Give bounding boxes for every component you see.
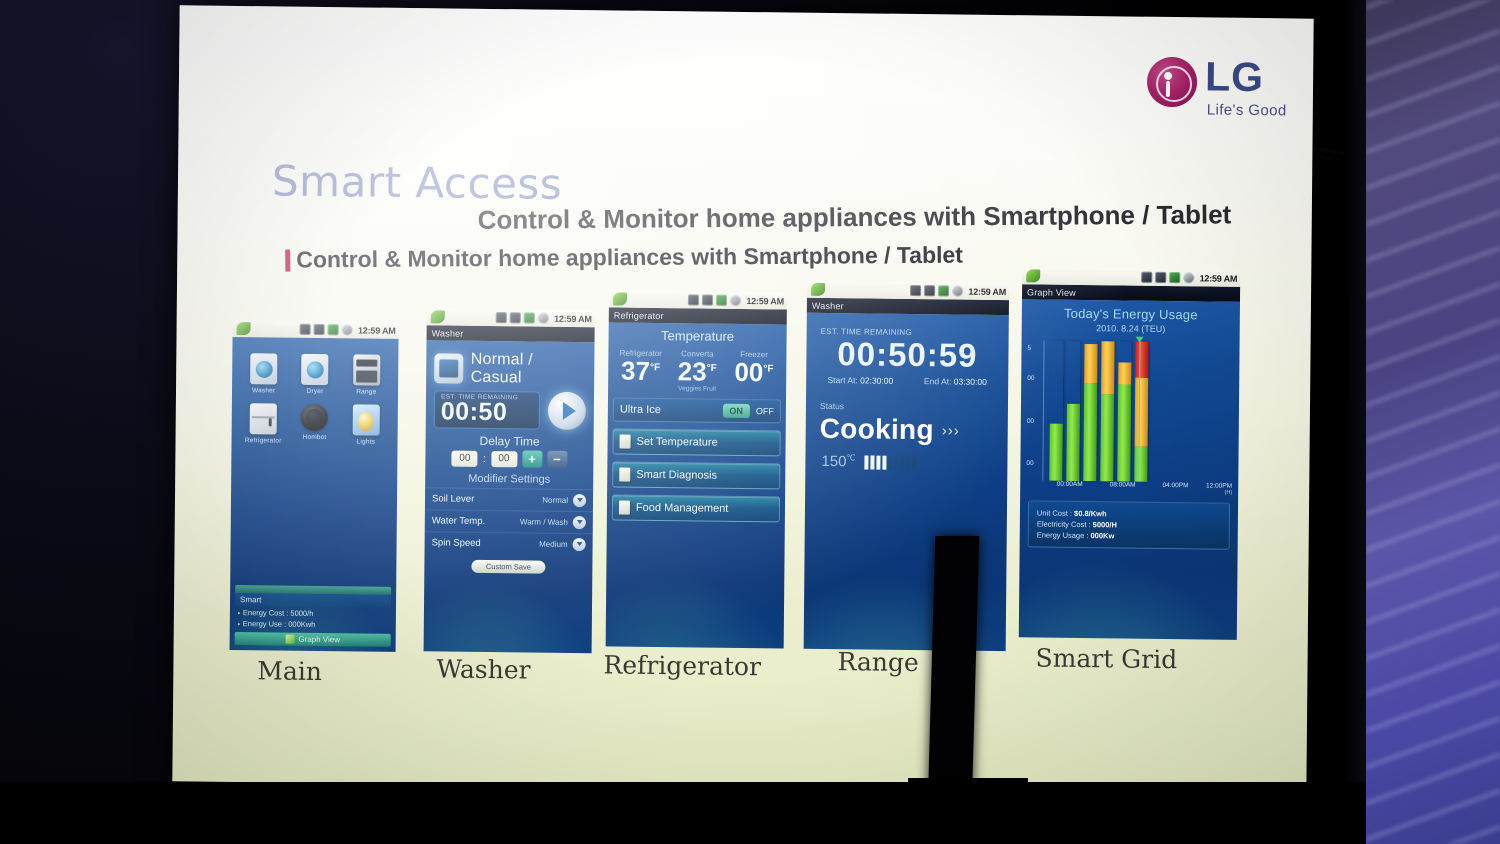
x-tick: 04:00PM (1162, 482, 1188, 489)
battery-icon (524, 312, 535, 323)
x-tick: 08:00AM (1110, 481, 1136, 488)
caption-washer: Washer (436, 654, 530, 684)
smart-summary-panel: Smart Energy Cost : 5000/h Energy Use : … (235, 585, 392, 647)
chart-bar (1100, 341, 1114, 481)
lg-wordmark: LG (1205, 53, 1264, 101)
time-remaining-box: EST. TIME REMAINING 00:50 (434, 390, 540, 429)
washer-screen-body: Normal / Casual EST. TIME REMAINING 00:5… (424, 340, 595, 653)
chart-x-axis: 00:00AM 08:00AM 04:00PM 12:00PM (H) (1043, 481, 1232, 497)
leaf-icon (431, 310, 445, 323)
alarm-icon (730, 295, 741, 306)
hombot-icon (301, 404, 328, 431)
y-tick: 00 (1027, 418, 1034, 425)
time-remaining-value: 00:50 (441, 401, 533, 426)
delay-increase-button[interactable]: + (522, 450, 542, 467)
phone-refrigerator: 12:59 AM Refrigerator Temperature Refrig… (606, 290, 787, 648)
program-row[interactable]: Normal / Casual (426, 340, 594, 390)
range-status-value: Cooking (820, 413, 934, 446)
app-label: Dryer (307, 388, 324, 395)
range-level-meter (864, 455, 916, 470)
heading-accent-bar (285, 249, 290, 271)
y-tick: 00 (1027, 375, 1034, 382)
chart-bar (1083, 341, 1097, 481)
menu-label: Food Management (636, 502, 728, 515)
sim-icon (496, 312, 507, 323)
leaf-icon (237, 322, 251, 335)
document-icon (619, 468, 630, 482)
phone-range: 12:59 AM Washer EST. TIME REMAINING 00:5… (804, 281, 1009, 651)
range-temperature: 150℃ (821, 453, 855, 470)
app-label: Hombot (303, 434, 327, 441)
sim-icon (688, 294, 699, 305)
app-lights[interactable]: Lights (340, 404, 392, 446)
chart-subtitle: 2010. 8.24 (TEU) (1022, 320, 1240, 335)
temperature-title: Temperature (609, 322, 787, 346)
setting-value: Normal (542, 496, 568, 505)
battery-icon (328, 324, 339, 335)
leaf-icon (613, 292, 627, 305)
leaf-icon (1026, 269, 1040, 282)
app-label: Washer (252, 387, 275, 394)
battery-icon (716, 295, 727, 306)
menu-label: Smart Diagnosis (636, 469, 717, 482)
custom-save-button[interactable]: Custom Save (472, 560, 545, 574)
battery-icon (938, 285, 949, 296)
refrigerator-screen-body: Temperature Refrigerator 37°F Converta 2… (606, 322, 787, 648)
status-time: 12:59 AM (968, 286, 1006, 296)
energy-use-row: Energy Use : 000Kwh (235, 617, 391, 630)
app-washer[interactable]: Washer (238, 353, 290, 395)
chart-bar (1066, 341, 1080, 481)
temperature-zones: Refrigerator 37°F Converta 23°F Veggies … (608, 344, 786, 393)
phone-washer: 12:59 AM Washer Normal / Casual EST. TIM… (424, 308, 595, 653)
delay-minutes-input[interactable]: 00 (491, 451, 517, 467)
chart-bar (1049, 341, 1063, 481)
signal-icon (1156, 272, 1167, 283)
lg-nose-icon (1166, 81, 1170, 97)
start-at: Start At: 02:30:00 (827, 375, 893, 386)
chart-bars (1049, 341, 1148, 482)
range-screen-body: EST. TIME REMAINING 00:50:59 Start At: 0… (804, 313, 1009, 651)
graph-view-label: Graph View (298, 635, 340, 644)
alarm-icon (538, 313, 549, 324)
statusbar-smart-grid: 12:59 AM (1022, 267, 1240, 287)
delay-decrease-button[interactable]: − (547, 451, 567, 468)
statusbar-washer: 12:59 AM (427, 308, 595, 327)
lg-eye-icon (1164, 72, 1172, 80)
washer-icon (250, 353, 277, 384)
delay-time-row: 00 : 00 + − (425, 449, 593, 472)
end-at: End At: 03:30:00 (924, 376, 987, 387)
toggle-off-option[interactable]: OFF (756, 406, 774, 416)
graph-view-button[interactable]: Graph View (235, 632, 391, 647)
app-dryer[interactable]: Dryer (289, 354, 341, 396)
delay-hours-input[interactable]: 00 (452, 450, 478, 466)
menu-smart-diagnosis[interactable]: Smart Diagnosis (612, 462, 780, 490)
lg-mark-icon (1147, 57, 1197, 108)
slide-heading-text: Control & Monitor home appliances with S… (296, 242, 963, 274)
alarm-icon (1184, 272, 1195, 283)
sim-icon (910, 285, 921, 296)
projection-screen: LG Life's Good Smart Access Control & Mo… (172, 5, 1313, 794)
signal-icon (702, 295, 713, 306)
status-time: 12:59 AM (358, 325, 396, 335)
chart-bar (1134, 342, 1148, 482)
range-schedule-row: Start At: 02:30:00 End At: 03:30:00 (806, 372, 1008, 387)
chart-y-axis: 5 00 00 00 (1026, 340, 1044, 480)
range-status-row: Cooking ››› (806, 411, 1008, 447)
ultra-ice-label: Ultra Ice (620, 404, 723, 417)
status-time: 12:59 AM (1200, 273, 1238, 283)
phone-main: 12:59 AM Washer Dryer Range (230, 320, 399, 652)
document-icon (620, 435, 631, 449)
zone-sub: Veggies Fruit (669, 385, 726, 393)
ellipsis-icon: ››› (942, 422, 960, 439)
toggle-on-option[interactable]: ON (722, 404, 750, 418)
timer-row: EST. TIME REMAINING 00:50 (426, 388, 594, 430)
lg-logo: LG Life's Good (1147, 55, 1288, 123)
energy-usage-row: Energy Usage : 000Kw (1037, 529, 1221, 542)
ultra-ice-row: Ultra Ice ON OFF (613, 398, 781, 424)
setting-value: Warm / Wash (520, 517, 568, 527)
signal-icon (924, 285, 935, 296)
menu-food-management[interactable]: Food Management (612, 495, 780, 523)
delay-time-title: Delay Time (425, 428, 593, 451)
slide-heading: Control & Monitor home appliances with S… (285, 242, 963, 274)
x-axis-unit: (H) (1225, 490, 1233, 496)
document-icon (619, 501, 630, 515)
status-time: 12:59 AM (554, 313, 592, 323)
statusbar-range: 12:59 AM (807, 281, 1009, 300)
smart-grid-screen-body: Today's Energy Usage 2010. 8.24 (TEU) 5 … (1019, 299, 1240, 640)
caption-range: Range (837, 647, 918, 677)
zone-converta[interactable]: Converta 23°F Veggies Fruit (669, 349, 726, 393)
setting-row-water-temp[interactable]: Water Temp. Warm / Wash (425, 509, 593, 533)
play-button[interactable] (548, 392, 586, 430)
menu-set-temperature[interactable]: Set Temperature (612, 429, 780, 457)
lights-icon (352, 404, 379, 435)
leaf-icon (811, 283, 825, 296)
app-range[interactable]: Range (341, 354, 393, 396)
alarm-icon (342, 324, 353, 335)
setting-key: Water Temp. (432, 515, 520, 527)
app-label: Refrigerator (245, 437, 282, 444)
photo-of-presentation-screen: LG Life's Good Smart Access Control & Mo… (0, 0, 1500, 844)
zone-freezer[interactable]: Freezer 00°F (725, 350, 782, 394)
energy-usage-chart: 5 00 00 00 (1026, 340, 1233, 496)
range-time-value: 00:50:59 (806, 336, 1008, 375)
zone-refrigerator[interactable]: Refrigerator 37°F (612, 348, 669, 392)
setting-row-soil-lever[interactable]: Soil Lever Normal (425, 487, 593, 511)
signal-icon (510, 312, 521, 323)
chevron-down-icon[interactable] (573, 538, 586, 551)
zone-value: 23°F (669, 358, 726, 386)
graph-icon (285, 635, 294, 644)
app-refrigerator[interactable]: Refrigerator (238, 403, 290, 445)
app-grid: Washer Dryer Range Refrigerator (232, 337, 399, 446)
app-label: Lights (357, 438, 376, 445)
chevron-down-icon[interactable] (573, 494, 586, 507)
ultra-ice-toggle[interactable]: ON OFF (722, 404, 774, 419)
range-icon (353, 354, 380, 385)
washer-program-icon (434, 353, 464, 383)
lg-tagline: Life's Good (1207, 101, 1287, 119)
caption-main: Main (257, 656, 322, 686)
delay-separator: : (483, 452, 486, 464)
signal-icon (314, 324, 325, 335)
program-name: Normal / Casual (471, 351, 587, 388)
curtain-edge (1344, 0, 1366, 844)
setting-value: Medium (539, 540, 568, 549)
chart-plot-area (1043, 341, 1233, 483)
refrigerator-icon (250, 403, 277, 434)
menu-label: Set Temperature (637, 436, 718, 449)
slide-subtitle: Control & Monitor home appliances with S… (478, 199, 1232, 236)
app-hombot[interactable]: Hombot (289, 404, 341, 446)
y-tick: 00 (1026, 460, 1033, 467)
custom-save-row: Custom Save (424, 553, 592, 579)
setting-row-spin-speed[interactable]: Spin Speed Medium (425, 531, 593, 555)
setting-key: Soil Lever (432, 493, 542, 505)
sim-icon (300, 324, 311, 335)
phone-smart-grid: 12:59 AM Graph View Today's Energy Usage… (1019, 267, 1241, 640)
zone-value: 37°F (612, 357, 669, 385)
y-tick: 5 (1027, 345, 1031, 352)
alarm-icon (952, 285, 963, 296)
range-temperature-row: 150℃ (805, 445, 1007, 472)
setting-key: Spin Speed (432, 537, 540, 549)
sim-icon (1142, 272, 1153, 283)
floor-shadow (0, 782, 1366, 844)
modifier-settings-title: Modifier Settings (425, 470, 593, 489)
app-label: Range (356, 388, 376, 395)
range-status-label: Status (806, 385, 1008, 413)
slide-title: Smart Access (272, 156, 563, 208)
status-time: 12:59 AM (746, 296, 784, 306)
statusbar-main: 12:59 AM (233, 320, 399, 339)
x-tick: 12:00PM (1206, 482, 1232, 489)
chart-title: Today's Energy Usage (1022, 299, 1240, 323)
stage-curtain (1366, 0, 1500, 844)
chevron-down-icon[interactable] (573, 516, 586, 529)
main-screen-body: Washer Dryer Range Refrigerator (230, 337, 399, 652)
caption-refrigerator: Refrigerator (603, 650, 761, 681)
zone-value: 00°F (725, 359, 782, 387)
caption-smart-grid: Smart Grid (1035, 643, 1177, 674)
dryer-icon (302, 354, 329, 385)
x-tick: 00:00AM (1057, 481, 1083, 488)
statusbar-refrigerator: 12:59 AM (609, 290, 787, 309)
energy-info-panel: Unit Cost : $0.8/Kwh Electricity Cost : … (1028, 500, 1230, 549)
chart-bar (1117, 341, 1131, 481)
battery-icon (1170, 272, 1181, 283)
